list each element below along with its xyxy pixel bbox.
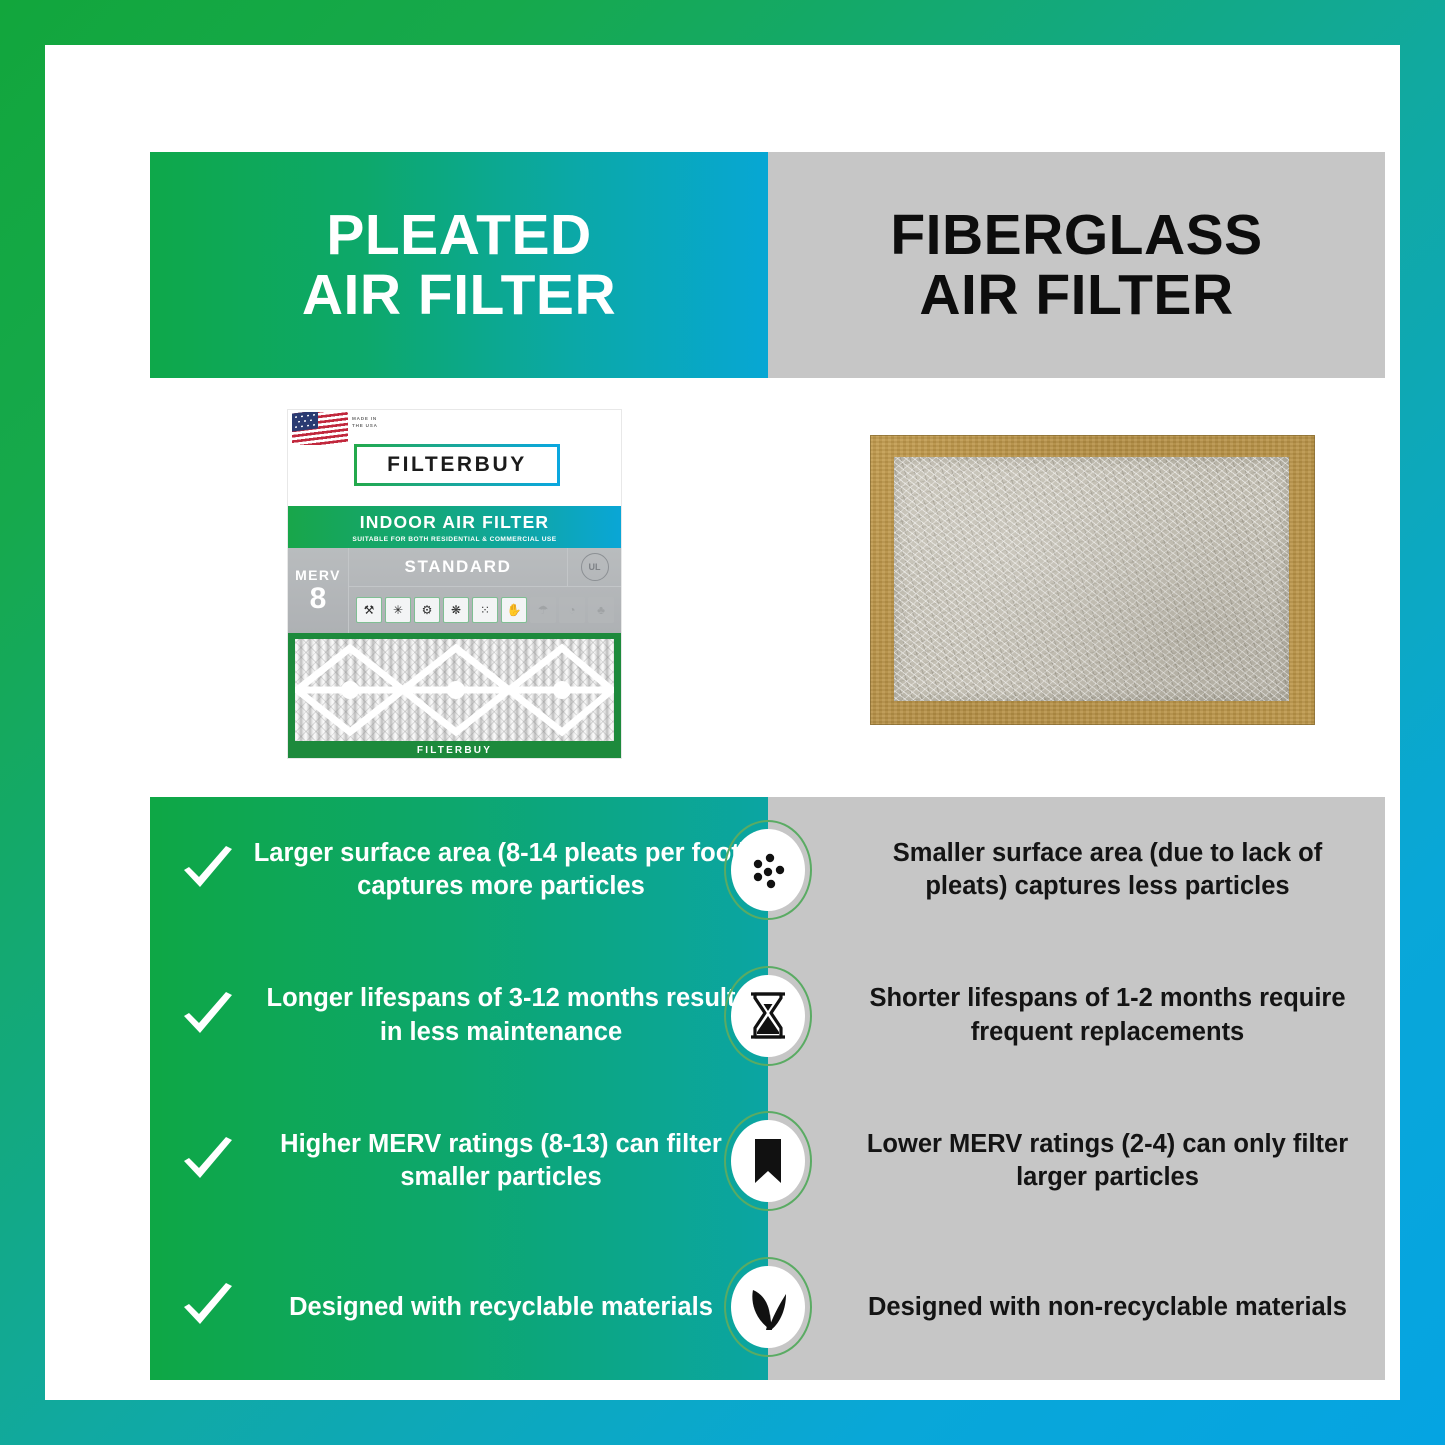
- white-mat: PLEATED AIR FILTER FIBERGLASS AIR FILTER…: [45, 45, 1400, 1400]
- merv-label: MERV: [295, 567, 341, 583]
- header-fiberglass-title: FIBERGLASS AIR FILTER: [890, 205, 1262, 326]
- pleat-texture: [295, 639, 614, 741]
- odor-icon: ♣: [588, 597, 614, 623]
- smog-icon: ☂: [530, 597, 556, 623]
- checkmark-icon: [176, 985, 238, 1047]
- dust-lint-icon: ⚒: [356, 597, 382, 623]
- product-box-header: MADE IN THE USA FILTERBUY: [288, 410, 621, 506]
- merv-badge: MERV 8: [288, 548, 349, 633]
- row-left-cell: Longer lifespans of 3-12 months result i…: [150, 982, 768, 1048]
- pleated-filter-product-image: MADE IN THE USA FILTERBUY INDOOR AIR FIL…: [288, 410, 621, 758]
- row-left-cell: Larger surface area (8-14 pleats per foo…: [150, 837, 768, 903]
- row-right-cell: Designed with non-recyclable materials: [768, 1291, 1385, 1324]
- ul-mark-text: UL: [581, 553, 609, 581]
- merv-value: 8: [310, 584, 327, 614]
- smoke-particles-icon: ⁙: [472, 597, 498, 623]
- bacteria-virus-icon: ◔: [559, 597, 585, 623]
- pollen-mold-icon: ✳: [385, 597, 411, 623]
- indoor-air-filter-subtitle: SUITABLE FOR BOTH RESIDENTIAL & COMMERCI…: [352, 536, 556, 543]
- comparison-rows: Larger surface area (8-14 pleats per foo…: [150, 797, 1385, 1380]
- ul-certification-mark: UL: [567, 548, 621, 586]
- row-left-cell: Higher MERV ratings (8-13) can filter sm…: [150, 1128, 768, 1194]
- header-pleated: PLEATED AIR FILTER: [150, 152, 768, 378]
- comparison-panel: Larger surface area (8-14 pleats per foo…: [150, 797, 1385, 1380]
- bookmark-icon: [724, 1111, 812, 1211]
- comparison-row: Designed with recyclable materials Desig…: [150, 1234, 1385, 1380]
- product-spec-strip: MERV 8 STANDARD UL ⚒ ✳ ⚙: [288, 548, 621, 633]
- mold-spores-icon: ❋: [443, 597, 469, 623]
- capability-icon-row: ⚒ ✳ ⚙ ❋ ⁙ ✋ ☂ ◔ ♣: [349, 587, 621, 633]
- pleated-media-area: FILTERBUY: [288, 633, 621, 758]
- row-right-text: Lower MERV ratings (2-4) can only filter…: [854, 1128, 1361, 1194]
- row-right-cell: Lower MERV ratings (2-4) can only filter…: [768, 1128, 1385, 1194]
- usa-flag-icon: [292, 412, 348, 445]
- infographic-poster: PLEATED AIR FILTER FIBERGLASS AIR FILTER…: [0, 0, 1445, 1445]
- row-right-text: Smaller surface area (due to lack of ple…: [854, 837, 1361, 903]
- product-footer-brand: FILTERBUY: [288, 745, 621, 756]
- grade-label: STANDARD: [349, 557, 567, 577]
- header-row: PLEATED AIR FILTER FIBERGLASS AIR FILTER: [150, 152, 1385, 378]
- indoor-air-filter-title: INDOOR AIR FILTER: [360, 512, 550, 533]
- row-right-cell: Smaller surface area (due to lack of ple…: [768, 837, 1385, 903]
- header-pleated-title: PLEATED AIR FILTER: [302, 205, 616, 326]
- row-left-text: Larger surface area (8-14 pleats per foo…: [252, 837, 750, 903]
- comparison-row: Longer lifespans of 3-12 months result i…: [150, 943, 1385, 1089]
- checkmark-icon: [176, 839, 238, 901]
- made-in-usa-label: MADE IN THE USA: [352, 415, 378, 429]
- fiberglass-media: [894, 457, 1289, 701]
- row-left-text: Higher MERV ratings (8-13) can filter sm…: [252, 1128, 750, 1194]
- fiberglass-filter-product-image: [870, 435, 1315, 725]
- comparison-row: Higher MERV ratings (8-13) can filter sm…: [150, 1089, 1385, 1235]
- row-right-text: Shorter lifespans of 1-2 months require …: [854, 982, 1361, 1048]
- pet-dander-icon: ✋: [501, 597, 527, 623]
- grade-row: STANDARD UL: [349, 548, 621, 587]
- spec-right: STANDARD UL ⚒ ✳ ⚙ ❋ ⁙ ✋ ☂: [349, 548, 621, 633]
- indoor-air-filter-band: INDOOR AIR FILTER SUITABLE FOR BOTH RESI…: [288, 506, 621, 548]
- leaf-icon: [724, 1257, 812, 1357]
- checkmark-icon: [176, 1130, 238, 1192]
- particles-icon: [724, 820, 812, 920]
- hourglass-icon: [724, 966, 812, 1066]
- checkmark-icon: [176, 1276, 238, 1338]
- row-right-text: Designed with non-recyclable materials: [854, 1291, 1361, 1324]
- row-left-cell: Designed with recyclable materials: [150, 1276, 768, 1338]
- row-left-text: Longer lifespans of 3-12 months result i…: [252, 982, 750, 1048]
- comparison-row: Larger surface area (8-14 pleats per foo…: [150, 797, 1385, 943]
- filterbuy-logo-text: FILTERBUY: [387, 453, 527, 477]
- product-image-row: MADE IN THE USA FILTERBUY INDOOR AIR FIL…: [150, 378, 1385, 797]
- bacteria-icon: ⚙: [414, 597, 440, 623]
- filterbuy-logo: FILTERBUY: [354, 444, 560, 486]
- row-left-text: Designed with recyclable materials: [252, 1291, 750, 1324]
- row-right-cell: Shorter lifespans of 1-2 months require …: [768, 982, 1385, 1048]
- header-fiberglass: FIBERGLASS AIR FILTER: [768, 152, 1385, 378]
